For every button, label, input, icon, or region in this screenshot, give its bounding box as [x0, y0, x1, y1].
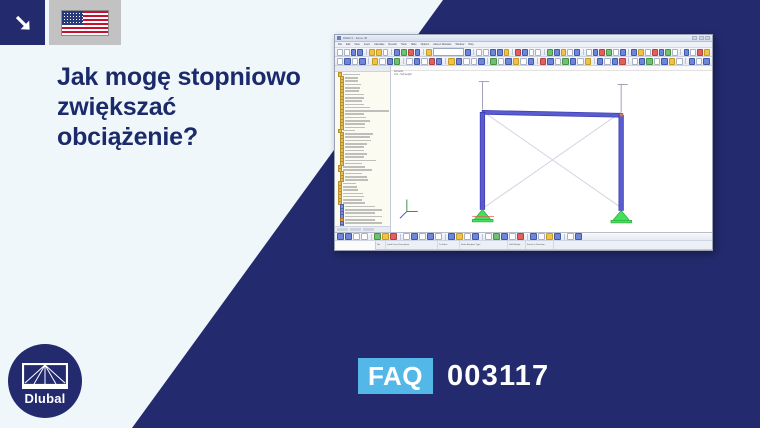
toolbar-button-12[interactable] [427, 233, 434, 240]
toolbar-button-31[interactable] [555, 58, 561, 65]
navigator-tab-views[interactable] [363, 228, 374, 231]
toolbar-button-16[interactable] [448, 58, 454, 65]
table-column-header[interactable]: Load Case Description [386, 241, 438, 249]
toolbar-button-44[interactable] [646, 58, 652, 65]
toolbar-button-10[interactable] [411, 233, 418, 240]
faq-number: 003117 [447, 360, 549, 393]
toolbar-button-52[interactable] [703, 58, 709, 65]
toolbar-button-40[interactable] [619, 58, 625, 65]
tree-item-label [343, 202, 364, 204]
toolbar-button-32[interactable] [562, 58, 568, 65]
menu-item-add-on-modules[interactable]: Add-on Modules [433, 43, 451, 46]
toolbar-button-37[interactable] [597, 58, 603, 65]
faq-badge: FAQ 003117 [358, 358, 549, 394]
toolbar-button-7[interactable] [387, 58, 393, 65]
tree-item-label [343, 169, 371, 171]
tree-item-label [345, 163, 361, 165]
toolbar-button-8[interactable] [394, 58, 400, 65]
toolbar-button-24[interactable] [517, 233, 524, 240]
tree-item-label [343, 186, 357, 188]
toolbar-button-7[interactable] [383, 49, 389, 56]
toolbar-button-38[interactable] [606, 49, 612, 56]
toolbar-button-22[interactable] [501, 233, 508, 240]
toolbar-separator [445, 234, 446, 240]
toolbar-button-51[interactable] [696, 58, 702, 65]
toolbar-button-10[interactable] [406, 58, 412, 65]
toolbar-button-30[interactable] [547, 58, 553, 65]
toolbar-button-11[interactable] [414, 58, 420, 65]
navigator-tabs[interactable] [335, 226, 390, 232]
table-column-header[interactable]: Factor in Direction [526, 241, 554, 249]
toolbar-button-3[interactable] [361, 233, 368, 240]
toolbar-button-37[interactable] [599, 49, 605, 56]
table-toolbar[interactable] [335, 233, 712, 241]
toolbar-button-20[interactable] [478, 58, 484, 65]
toolbar-button-47[interactable] [669, 58, 675, 65]
toolbar-separator [400, 234, 401, 240]
toolbar-button-11[interactable] [408, 49, 414, 56]
toolbar-button-45[interactable] [654, 58, 660, 65]
app-titlebar: RFEM 6 - Demo.rf6 [335, 35, 712, 42]
toolbar-button-13[interactable] [429, 58, 435, 65]
toolbar-button-6[interactable] [379, 58, 385, 65]
toolbar-button-14[interactable] [426, 49, 432, 56]
pinned-support-left [472, 209, 494, 221]
toolbar-separator [403, 58, 404, 64]
app-toolbar-row-2[interactable] [335, 57, 712, 66]
toolbar-button-48[interactable] [676, 58, 682, 65]
tree-item-label [345, 219, 375, 221]
table-column-header[interactable]: Self-Weight [508, 241, 526, 249]
toolbar-button-6[interactable] [382, 233, 389, 240]
toolbar-separator [368, 58, 369, 64]
table-cell[interactable] [386, 250, 438, 251]
toolbar-separator [391, 49, 392, 55]
toolbar-button-36[interactable] [593, 49, 599, 56]
menu-item-insert[interactable]: Insert [364, 43, 370, 46]
table-cell[interactable] [508, 250, 526, 251]
toolbar-separator [685, 58, 686, 64]
toolbar-button-46[interactable] [661, 58, 667, 65]
menu-item-edit[interactable]: Edit [346, 43, 350, 46]
portal-frame-model [391, 66, 712, 232]
toolbar-button-45[interactable] [652, 49, 658, 56]
table-column-header[interactable]: Static Analysis Type [460, 241, 508, 249]
language-flag-tile[interactable] [49, 0, 121, 45]
toolbar-button-5[interactable] [374, 233, 381, 240]
toolbar-button-24[interactable] [505, 58, 511, 65]
table-wrap[interactable]: No.Load Case DescriptionTo SolveStatic A… [335, 241, 712, 251]
toolbar-button-33[interactable] [570, 58, 576, 65]
tree-item-label [345, 176, 366, 178]
toolbar-loadcase-combo[interactable] [433, 48, 464, 56]
tree-item-label [343, 199, 361, 201]
toolbar-separator [583, 49, 584, 55]
pinned-support-right [611, 210, 632, 222]
headline-line-1: Jak mogę stopniowo [57, 62, 357, 92]
toolbar-button-17[interactable] [456, 58, 462, 65]
menu-item-help[interactable]: Help [468, 43, 473, 46]
tree-item-label [345, 153, 367, 155]
maximize-button[interactable] [699, 36, 704, 40]
table-cell[interactable] [376, 250, 386, 251]
app-toolbar-row-1[interactable] [335, 48, 712, 57]
toolbar-separator [487, 58, 488, 64]
tree-item-label [343, 193, 363, 195]
toolbar-button-19[interactable] [471, 58, 477, 65]
toolbar-button-22[interactable] [490, 58, 496, 65]
toolbar-button-16[interactable] [465, 49, 471, 56]
nodal-load-left [479, 82, 489, 110]
toolbar-button-20[interactable] [490, 49, 496, 56]
tree-item-label [345, 209, 382, 211]
data-table[interactable]: No.Load Case DescriptionTo SolveStatic A… [376, 241, 712, 251]
toolbar-button-43[interactable] [638, 49, 644, 56]
toolbar-button-5[interactable] [369, 49, 375, 56]
us-flag-icon [61, 10, 109, 36]
tree-item-label [345, 206, 375, 208]
toolbar-button-43[interactable] [639, 58, 645, 65]
table-panel[interactable]: No.Load Case DescriptionTo SolveStatic A… [335, 232, 712, 251]
tree-item-label [343, 196, 364, 198]
toolbar-button-33[interactable] [574, 49, 580, 56]
toolbar-button-26[interactable] [520, 58, 526, 65]
menu-item-window[interactable]: Window [455, 43, 464, 46]
app-body: Isometric LC1 - Self-weight [335, 66, 712, 232]
app-window-title: RFEM 6 - Demo.rf6 [343, 37, 367, 40]
toolbar-separator [594, 58, 595, 64]
toolbar-button-31[interactable] [567, 233, 574, 240]
toolbar-button-10[interactable] [401, 49, 407, 56]
tree-item-label [345, 179, 368, 181]
menu-item-options[interactable]: Options [421, 43, 430, 46]
table-row[interactable] [376, 250, 712, 251]
toolbar-button-44[interactable] [645, 49, 651, 56]
table-column-header[interactable]: No. [376, 241, 386, 249]
toolbar-separator [537, 58, 538, 64]
table-sidebar [335, 241, 376, 251]
minimize-button[interactable] [692, 36, 697, 40]
toolbar-button-42[interactable] [631, 49, 637, 56]
table-header: No.Load Case DescriptionTo SolveStatic A… [376, 241, 712, 250]
toolbar-separator [527, 234, 528, 240]
toolbar-button-20[interactable] [485, 233, 492, 240]
tree-item-label [345, 226, 375, 227]
menu-item-file[interactable]: File [338, 43, 342, 46]
toolbar-button-1[interactable] [345, 233, 352, 240]
toolbar-button-15[interactable] [448, 233, 455, 240]
headline-line-3: obciążenie? [57, 122, 357, 152]
toolbar-button-21[interactable] [497, 49, 503, 56]
toolbar-button-7[interactable] [390, 233, 397, 240]
toolbar-button-29[interactable] [547, 49, 553, 56]
toolbar-button-0[interactable] [337, 233, 344, 240]
toolbar-button-3[interactable] [357, 49, 363, 56]
toolbar-separator [628, 58, 629, 64]
toolbar-button-18[interactable] [472, 233, 479, 240]
tree-item-label [345, 156, 363, 158]
toolbar-button-26[interactable] [529, 49, 535, 56]
toolbar-button-29[interactable] [554, 233, 561, 240]
toolbar-separator [564, 234, 565, 240]
tree-item-label [345, 222, 382, 224]
toolbar-button-12[interactable] [415, 49, 421, 56]
toolbar-separator [482, 234, 483, 240]
menu-item-view[interactable]: View [354, 43, 359, 46]
toolbar-button-42[interactable] [632, 58, 638, 65]
toolbar-button-34[interactable] [577, 58, 583, 65]
tree-item-label [345, 173, 361, 175]
app-screenshot: RFEM 6 - Demo.rf6 FileEditViewInsertCalc… [334, 34, 713, 251]
table-cell[interactable] [460, 250, 508, 251]
faq-tag-label: FAQ [358, 358, 433, 394]
tree-item-label [343, 166, 365, 168]
toolbar-button-28[interactable] [546, 233, 553, 240]
toolbar-button-32[interactable] [567, 49, 573, 56]
toolbar-separator [423, 49, 424, 55]
toolbar-separator [371, 234, 372, 240]
toolbar-button-22[interactable] [504, 49, 510, 56]
toolbar-separator [512, 49, 513, 55]
table-column-header[interactable]: To Solve [438, 241, 460, 249]
toolbar-button-0[interactable] [337, 49, 343, 56]
toolbar-button-23[interactable] [509, 233, 516, 240]
toolbar-button-25[interactable] [522, 49, 528, 56]
toolbar-button-39[interactable] [612, 58, 618, 65]
tree-item-label [343, 183, 356, 185]
close-button[interactable] [705, 36, 710, 40]
dlubal-logo: Dlubal [8, 344, 82, 418]
toolbar-button-48[interactable] [672, 49, 678, 56]
navigator-tab-display[interactable] [350, 228, 361, 231]
dlubal-logo-text: Dlubal [8, 391, 82, 406]
toolbar-button-1[interactable] [344, 49, 350, 56]
toolbar-button-40[interactable] [620, 49, 626, 56]
model-view[interactable]: Isometric LC1 - Self-weight [391, 66, 712, 232]
toolbar-button-30[interactable] [554, 49, 560, 56]
navigator-tab-data[interactable] [337, 228, 348, 231]
table-cell[interactable] [438, 250, 460, 251]
toolbar-button-27[interactable] [528, 58, 534, 65]
table-cell[interactable] [526, 250, 554, 251]
toolbar-button-3[interactable] [359, 58, 365, 65]
toolbar-button-26[interactable] [530, 233, 537, 240]
menu-item-tools[interactable]: Tools [401, 43, 407, 46]
x-bracing [484, 112, 621, 207]
toolbar-button-46[interactable] [659, 49, 665, 56]
toolbar-button-39[interactable] [613, 49, 619, 56]
toolbar-button-21[interactable] [493, 233, 500, 240]
toolbar-button-35[interactable] [586, 49, 592, 56]
toolbar-button-11[interactable] [419, 233, 426, 240]
table-rows[interactable] [376, 250, 712, 251]
toolbar-button-53[interactable] [704, 49, 710, 56]
tree-item-label [345, 216, 382, 218]
toolbar-button-16[interactable] [456, 233, 463, 240]
menu-item-table[interactable]: Table [411, 43, 417, 46]
toolbar-separator [473, 49, 474, 55]
headline-line-2: zwiększać [57, 92, 357, 122]
toolbar-button-2[interactable] [353, 233, 360, 240]
toolbar-button-35[interactable] [585, 58, 591, 65]
page-title: Jak mogę stopniowo zwiększać obciążenie? [57, 62, 357, 152]
app-icon [337, 36, 341, 40]
arrow-down-right-icon [0, 0, 45, 45]
tree-item-label [345, 212, 375, 214]
menu-item-results[interactable]: Results [388, 43, 396, 46]
toolbar-separator [628, 49, 629, 55]
toolbar-separator [544, 49, 545, 55]
toolbar-button-19[interactable] [483, 49, 489, 56]
window-controls[interactable] [692, 36, 710, 40]
toolbar-button-12[interactable] [421, 58, 427, 65]
toolbar-button-52[interactable] [697, 49, 703, 56]
toolbar-button-2[interactable] [351, 49, 357, 56]
toolbar-button-38[interactable] [604, 58, 610, 65]
toolbar-button-47[interactable] [665, 49, 671, 56]
toolbar-button-25[interactable] [513, 58, 519, 65]
toolbar-button-50[interactable] [689, 58, 695, 65]
toolbar-button-18[interactable] [476, 49, 482, 56]
toolbar-separator [445, 58, 446, 64]
toolbar-button-27[interactable] [538, 233, 545, 240]
toolbar-button-6[interactable] [376, 49, 382, 56]
toolbar-separator [680, 49, 681, 55]
toolbar-button-29[interactable] [540, 58, 546, 65]
toolbar-button-50[interactable] [684, 49, 690, 56]
toolbar-button-14[interactable] [436, 58, 442, 65]
tree-item-label [343, 189, 358, 191]
toolbar-button-17[interactable] [464, 233, 471, 240]
toolbar-button-51[interactable] [690, 49, 696, 56]
toolbar-button-9[interactable] [403, 233, 410, 240]
toolbar-button-27[interactable] [535, 49, 541, 56]
node-marker-right [620, 113, 623, 116]
tree-item-label [345, 160, 376, 162]
toolbar-separator [366, 49, 367, 55]
dlubal-truss-icon [22, 363, 68, 389]
toolbar-button-31[interactable] [561, 49, 567, 56]
toolbar-button-9[interactable] [394, 49, 400, 56]
toolbar-button-18[interactable] [463, 58, 469, 65]
toolbar-button-23[interactable] [498, 58, 504, 65]
toolbar-button-13[interactable] [435, 233, 442, 240]
menu-item-calculate[interactable]: Calculate [374, 43, 384, 46]
toolbar-button-24[interactable] [515, 49, 521, 56]
nodal-load-right [617, 85, 627, 113]
coordinate-axis-icon [400, 200, 418, 219]
toolbar-button-32[interactable] [575, 233, 582, 240]
slide-canvas: Jak mogę stopniowo zwiększać obciążenie?… [0, 0, 760, 428]
toolbar-button-5[interactable] [372, 58, 378, 65]
